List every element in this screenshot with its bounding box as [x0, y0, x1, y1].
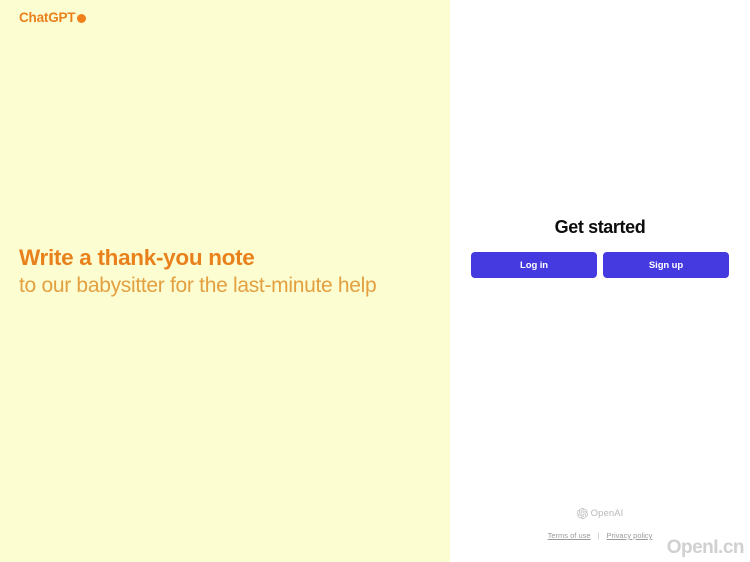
privacy-policy-link[interactable]: Privacy policy: [607, 531, 653, 540]
right-auth-panel: Get started Log in Sign up OpenAI Terms …: [450, 0, 750, 562]
page-title: Get started: [555, 216, 646, 238]
auth-buttons-group: Log in Sign up: [471, 252, 729, 278]
watermark: OpenI.cn: [667, 538, 744, 557]
openai-logo-label: OpenAI: [591, 509, 624, 519]
signup-button[interactable]: Sign up: [603, 252, 729, 278]
auth-block: Get started Log in Sign up: [450, 216, 750, 278]
footer: OpenAI Terms of use | Privacy policy: [450, 508, 750, 540]
example-prompt-bold-line: Write a thank-you note: [19, 243, 419, 272]
openai-logo: OpenAI: [577, 508, 624, 519]
footer-separator: |: [598, 531, 600, 540]
chatgpt-landing-page: ChatGPT Write a thank-you note to our ba…: [0, 0, 750, 562]
chatgpt-brand-label: ChatGPT: [19, 11, 75, 25]
login-button[interactable]: Log in: [471, 252, 597, 278]
chatgpt-brand-logo[interactable]: ChatGPT: [19, 11, 86, 25]
example-prompt-text: Write a thank-you note to our babysitter…: [19, 243, 419, 300]
openai-logo-icon: [577, 508, 588, 519]
footer-links: Terms of use | Privacy policy: [548, 531, 653, 540]
orange-dot-icon: [77, 14, 86, 23]
left-promo-panel: ChatGPT Write a thank-you note to our ba…: [0, 0, 450, 562]
terms-of-use-link[interactable]: Terms of use: [548, 531, 591, 540]
example-prompt-rest-line: to our babysitter for the last-minute he…: [19, 272, 419, 300]
